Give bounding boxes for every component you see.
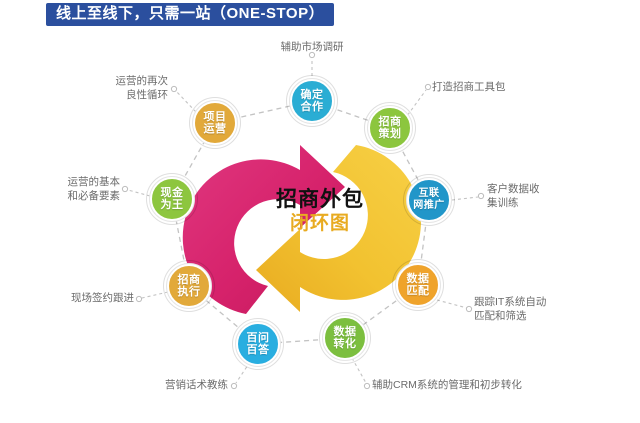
caption-onsite-signing: 现场签约跟进 [44,291,134,305]
node-project-operation[interactable]: 项目运营 [192,100,238,146]
node-investment-planning[interactable]: 招商策划 [367,105,413,151]
node-label-7: 招商执行 [178,274,201,298]
caption-it-matching: 跟踪IT系统自动 匹配和筛选 [474,295,584,323]
node-label-5: 数据转化 [334,326,357,350]
caption-toolkit: 打造招商工具包 [432,80,552,94]
node-label-2: 招商策划 [379,116,402,140]
node-data-conversion[interactable]: 数据转化 [322,315,368,361]
node-internet-promotion[interactable]: 互联网推广 [406,177,452,223]
node-cash-is-king[interactable]: 现金为王 [149,176,195,222]
node-confirm-cooperation[interactable]: 确定合作 [289,78,335,124]
node-label-9: 项目运营 [204,111,227,135]
node-label-4: 数据匹配 [407,273,430,297]
caption-sales-script: 营销话术教练 [118,378,228,392]
caption-customer-data: 客户数据收 集训练 [487,182,579,210]
caption-virtuous-cycle: 运营的再次 良性循环 [84,74,168,102]
ring-artwork [0,0,640,423]
node-data-matching[interactable]: 数据匹配 [395,262,441,308]
diagram-canvas: 线上至线下，只需一站（ONE-STOP） [0,0,640,423]
node-label-8: 现金为王 [161,187,184,211]
caption-crm: 辅助CRM系统的管理和初步转化 [372,378,572,392]
node-label-3: 互联网推广 [413,188,445,212]
node-label-6: 百问百答 [247,332,270,356]
caption-operation-basics: 运营的基本 和必备要素 [34,175,120,203]
caption-market-research: 辅助市场调研 [252,40,372,54]
node-label-1: 确定合作 [301,89,324,113]
node-investment-execution[interactable]: 招商执行 [166,263,212,309]
node-hundred-qa[interactable]: 百问百答 [235,321,281,367]
